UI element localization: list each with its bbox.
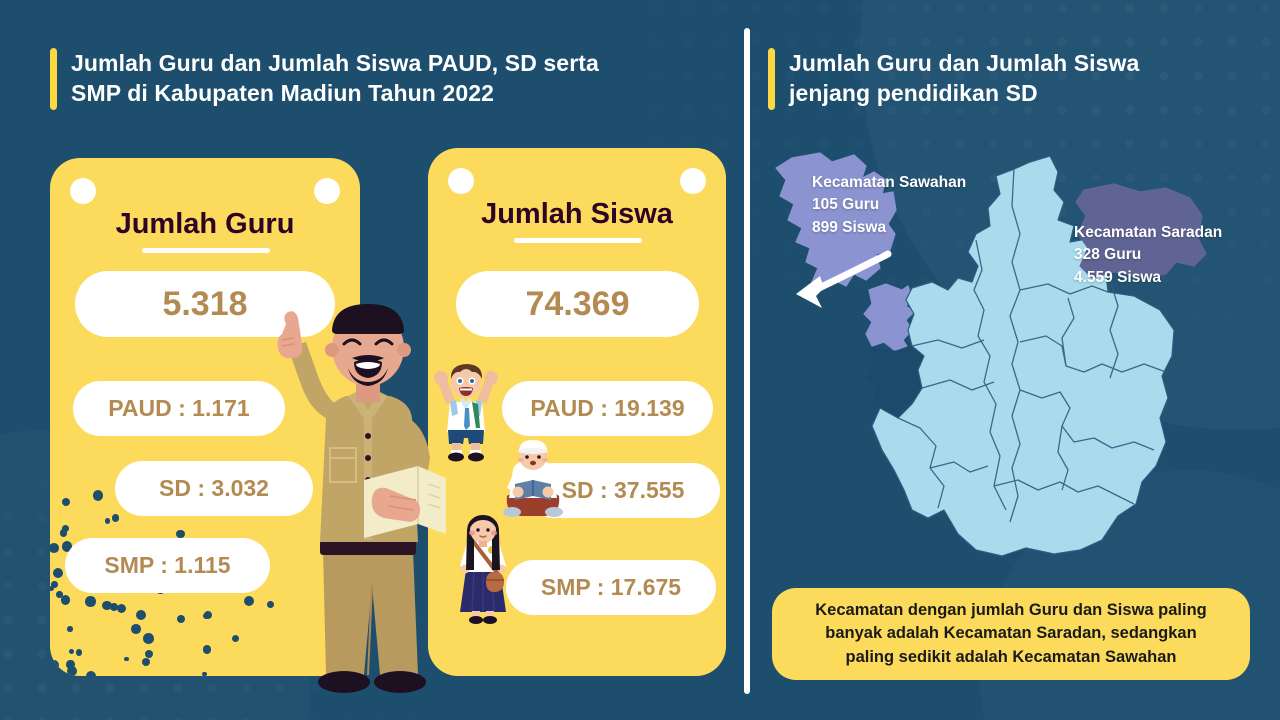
card-title-underline bbox=[514, 238, 642, 243]
map-label-saradan: Kecamatan Saradan 328 Guru 4.559 Siswa bbox=[1074, 222, 1222, 289]
right-panel-title-text: Jumlah Guru dan Jumlah Siswa jenjang pen… bbox=[789, 48, 1139, 109]
card-hole-right-icon bbox=[314, 178, 340, 204]
card-title-guru: Jumlah Guru bbox=[50, 208, 360, 241]
arrow-head-icon bbox=[796, 276, 824, 308]
map-region-sawahan-inset[interactable] bbox=[864, 284, 914, 350]
card-hole-left-icon bbox=[70, 178, 96, 204]
card-hole-left-icon bbox=[448, 168, 474, 194]
map-summary-callout: Kecamatan dengan jumlah Guru dan Siswa p… bbox=[772, 588, 1250, 680]
card-title-underline bbox=[142, 248, 270, 253]
guru-paud-value: PAUD : 1.171 bbox=[73, 381, 285, 436]
siswa-paud-value: PAUD : 19.139 bbox=[502, 381, 713, 436]
left-panel-title-text: Jumlah Guru dan Jumlah Siswa PAUD, SD se… bbox=[71, 48, 599, 109]
guru-smp-value: SMP : 1.115 bbox=[65, 538, 270, 593]
title-accent-bar bbox=[50, 48, 57, 110]
panel-divider bbox=[744, 28, 750, 694]
title-accent-bar bbox=[768, 48, 775, 110]
siswa-smp-value: SMP : 17.675 bbox=[506, 560, 716, 615]
left-panel-title: Jumlah Guru dan Jumlah Siswa PAUD, SD se… bbox=[50, 48, 710, 110]
card-title-siswa: Jumlah Siswa bbox=[428, 198, 726, 231]
map-label-sawahan: Kecamatan Sawahan 105 Guru 899 Siswa bbox=[812, 172, 966, 239]
infographic-root: Jumlah Guru dan Jumlah Siswa PAUD, SD se… bbox=[0, 0, 1280, 720]
girl-student-with-bag-illustration bbox=[450, 512, 516, 624]
boy-student-cheering-illustration bbox=[428, 358, 504, 462]
siswa-total-value: 74.369 bbox=[456, 271, 699, 337]
map-summary-callout-text: Kecamatan dengan jumlah Guru dan Siswa p… bbox=[815, 599, 1207, 669]
card-hole-right-icon bbox=[680, 168, 706, 194]
right-panel-title: Jumlah Guru dan Jumlah Siswa jenjang pen… bbox=[768, 48, 1238, 110]
